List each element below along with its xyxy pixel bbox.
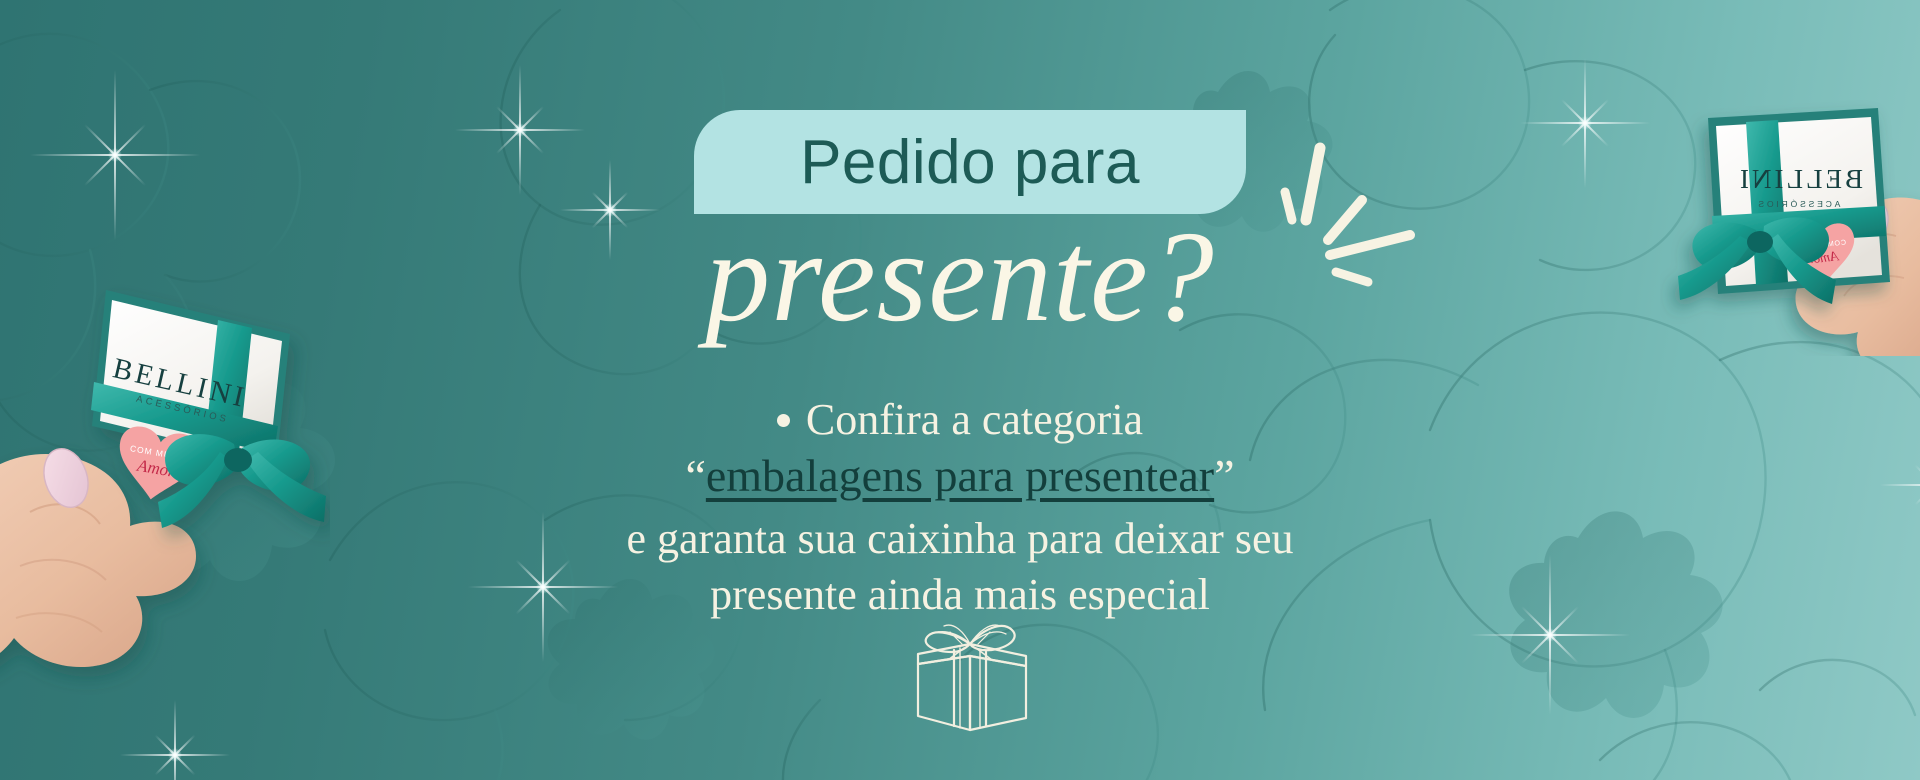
product-photo-left: BELLINI ACESSÓRIOS COM MUITO Amor [0, 276, 330, 780]
headline-question-mark: ? [1149, 205, 1215, 349]
promo-copy: Confira a categoria “embalagens para pre… [430, 395, 1490, 623]
gift-promo-banner: Pedido para presente? Confira a categori… [0, 0, 1920, 780]
copy-line-1-text: Confira a categoria [806, 395, 1143, 444]
quote-open: “ [685, 450, 705, 501]
copy-line-2: “embalagens para presentear” [430, 448, 1490, 503]
category-link[interactable]: embalagens para presentear [706, 450, 1214, 501]
copy-line-1: Confira a categoria [430, 395, 1490, 446]
headline-word: presente [705, 205, 1149, 349]
product-brand-sub-right: ACESSÓRIOS [1756, 199, 1841, 209]
bullet-point-icon [777, 414, 790, 427]
badge-label: Pedido para [694, 110, 1246, 214]
gift-box-icon [890, 608, 1050, 738]
copy-line-3: e garanta sua caixinha para deixar seu [430, 511, 1490, 567]
starburst-icon [1240, 120, 1490, 370]
product-brand-right: BELLINI [1737, 164, 1863, 194]
product-photo-right: BELLINI ACESSÓRIOS COM MUITO Amor [1660, 96, 1920, 356]
quote-close: ” [1214, 450, 1234, 501]
